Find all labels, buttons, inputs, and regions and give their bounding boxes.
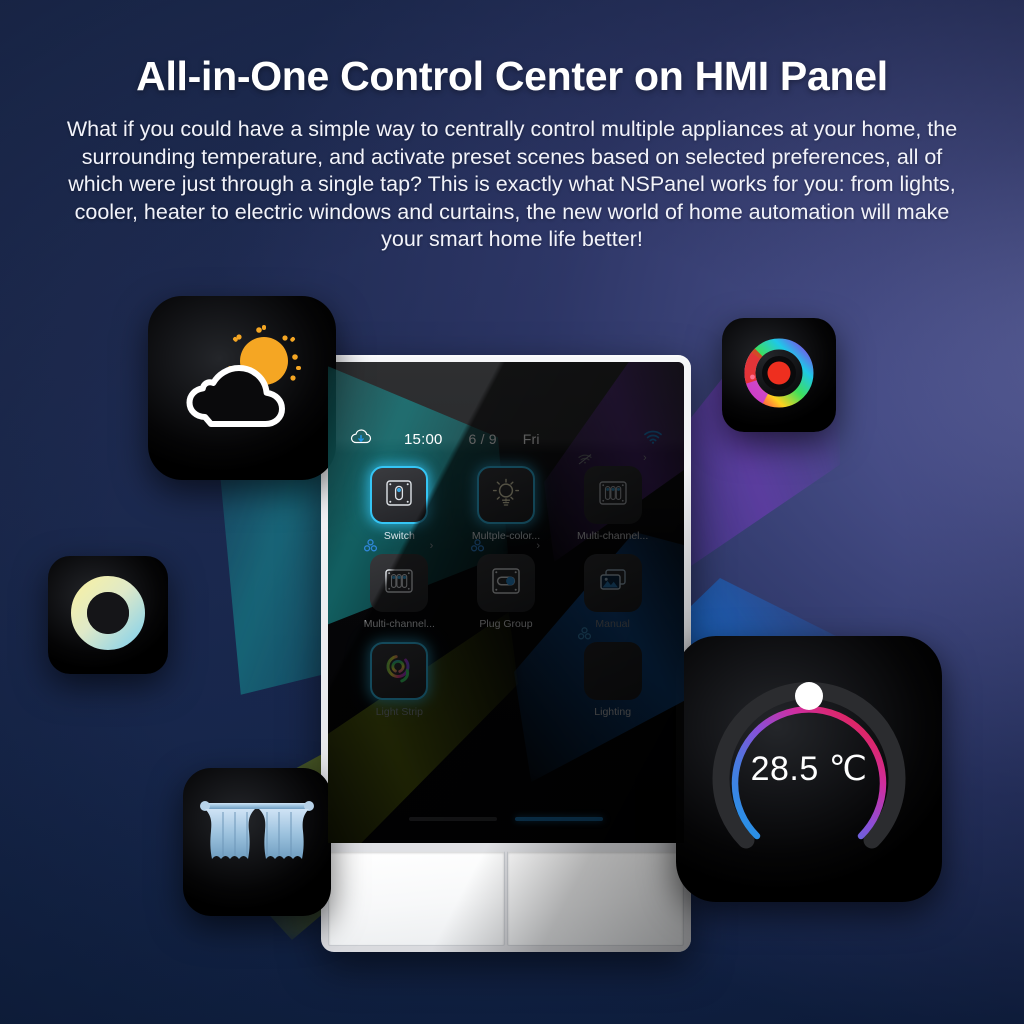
tile-multi-channel-b-icon-box[interactable]: › — [370, 554, 428, 612]
callout-curtain — [183, 768, 331, 916]
tile-label: Switch — [384, 530, 415, 542]
tile-multi-channel-b[interactable]: › — [353, 554, 445, 630]
tile-switch-icon-box[interactable] — [370, 466, 428, 524]
poster-canvas: All-in-One Control Center on HMI Panel W… — [0, 0, 1024, 1024]
callout-rgb-wheel — [722, 318, 836, 432]
three-gang-switch-icon — [596, 476, 630, 515]
tile-label: Light Strip — [376, 706, 423, 718]
tile-empty-slot — [477, 642, 535, 700]
tile-lighting-icon-box[interactable] — [584, 642, 642, 700]
group-icon — [364, 539, 377, 552]
status-date: 6 / 9 — [469, 431, 497, 447]
tile-lighting[interactable]: Lighting — [567, 642, 659, 718]
tile-multiple-color[interactable]: Multple-color... — [460, 466, 552, 542]
page-dot-2[interactable] — [515, 817, 603, 821]
wifi-off-icon — [578, 452, 592, 463]
tile-label: Multi-channel... — [364, 618, 435, 630]
group-icon — [578, 627, 591, 640]
photos-scene-icon — [596, 566, 630, 601]
callout-dimmer — [48, 556, 168, 674]
page-title: All-in-One Control Center on HMI Panel — [0, 53, 1024, 100]
page-description: What if you could have a simple way to c… — [57, 116, 967, 254]
nspanel-device: 15:00 6 / 9 Fri — [321, 355, 691, 952]
tile-multi-channel-a-icon-box[interactable]: › — [584, 466, 642, 524]
tile-multiple-color-icon-box[interactable] — [477, 466, 535, 524]
tile-plug-group-icon-box[interactable]: › — [477, 554, 535, 612]
tile-grid: Switch Multple-color... — [328, 466, 684, 718]
page-dot-1[interactable] — [409, 817, 497, 821]
plug-toggle-icon — [489, 564, 523, 603]
status-bar-center: 15:00 6 / 9 Fri — [404, 431, 622, 448]
physical-button-right[interactable] — [507, 851, 684, 946]
physical-button-left[interactable] — [328, 851, 505, 946]
tile-light-strip-icon-box[interactable] — [370, 642, 428, 700]
light-bulb-icon — [489, 476, 523, 515]
chevron-right-icon[interactable]: › — [643, 453, 647, 464]
curtain-control-icon — [197, 790, 317, 895]
device-screen[interactable]: 15:00 6 / 9 Fri — [328, 362, 684, 843]
tile-label: Manual — [595, 618, 629, 630]
callout-weather — [148, 296, 336, 480]
group-icon — [471, 539, 484, 552]
tile-manual-icon-box[interactable] — [584, 554, 642, 612]
chevron-right-icon[interactable]: › — [536, 541, 540, 552]
cloud-download-icon — [350, 429, 372, 450]
tile-plug-group[interactable]: › Plug Group — [460, 554, 552, 630]
status-weekday: Fri — [523, 431, 540, 447]
physical-button-row — [328, 849, 684, 950]
wifi-icon — [644, 430, 662, 448]
tile-light-strip[interactable]: Light Strip — [353, 642, 445, 718]
tile-label: Plug Group — [479, 618, 532, 630]
chevron-right-icon[interactable]: › — [430, 541, 434, 552]
rgb-color-wheel-icon — [740, 334, 818, 417]
weather-cloud-sun-icon — [167, 321, 317, 456]
header-block: All-in-One Control Center on HMI Panel W… — [0, 0, 1024, 254]
thermostat-value: 28.5 ℃ — [676, 636, 942, 902]
switch-toggle-icon — [383, 477, 415, 514]
status-bar-right — [622, 430, 662, 448]
tile-switch[interactable]: Switch — [353, 466, 445, 542]
callout-thermostat: 28.5 ℃ — [676, 636, 942, 902]
tile-label: Lighting — [594, 706, 631, 718]
status-bar-left — [350, 429, 404, 450]
tile-empty — [460, 642, 552, 718]
tile-multi-channel-a[interactable]: › — [567, 466, 659, 542]
tile-manual[interactable]: Manual — [567, 554, 659, 630]
white-temperature-dimmer-icon — [68, 573, 148, 658]
status-bar: 15:00 6 / 9 Fri — [328, 424, 684, 454]
rgb-spiral-icon — [381, 651, 417, 692]
status-time: 15:00 — [404, 431, 443, 448]
page-indicator[interactable] — [328, 817, 684, 821]
three-gang-switch-icon — [382, 564, 416, 603]
tile-label: Multi-channel... — [577, 530, 648, 542]
